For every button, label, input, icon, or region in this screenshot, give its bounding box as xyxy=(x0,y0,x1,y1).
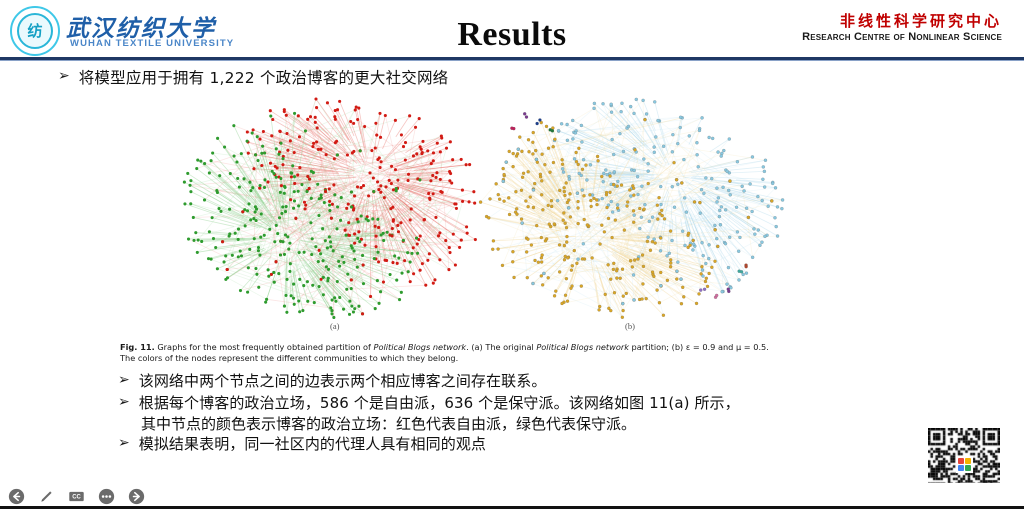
research-centre-name-en: Research Centre of Nonlinear Science xyxy=(802,31,1002,43)
bullet-item-3: ➢ 模拟结果表明，同一社区内的代理人具有相同的观点 xyxy=(118,435,908,455)
qr-logo-quadrant xyxy=(958,458,964,464)
top-bullet: ➢ 将模型应用于拥有 1,222 个政治博客的更大社交网络 xyxy=(58,68,448,88)
closed-caption-icon[interactable]: CC xyxy=(68,488,85,505)
figure-container xyxy=(120,92,910,337)
figure-sublabel-a: (a) xyxy=(330,321,339,331)
bullet-item-1: ➢ 该网络中两个节点之间的边表示两个相应博客之间存在联系。 xyxy=(118,372,908,392)
bullet-text-1: 该网络中两个节点之间的边表示两个相应博客之间存在联系。 xyxy=(139,372,547,392)
svg-text:CC: CC xyxy=(72,494,81,500)
caption-text-1: Graphs for the most frequently obtained … xyxy=(155,342,374,352)
header-divider-thin xyxy=(0,60,1024,61)
figure-sublabel-b: (b) xyxy=(625,321,635,331)
top-bullet-text: 将模型应用于拥有 1,222 个政治博客的更大社交网络 xyxy=(79,68,449,88)
caption-italic-1: Political Blogs network xyxy=(374,342,467,352)
bullet-marker-icon: ➢ xyxy=(118,372,130,390)
network-graph-b xyxy=(472,92,792,324)
bullet-marker-icon: ➢ xyxy=(118,394,130,412)
caption-figure-number: Fig. 11. xyxy=(120,342,155,352)
back-arrow-icon[interactable] xyxy=(8,488,25,505)
caption-text-2: . (a) The original xyxy=(466,342,536,352)
research-centre-name-cn: 非线性科学研究中心 xyxy=(840,10,1002,31)
bullet-text-2: 根据每个博客的政治立场，586 个是自由派，636 个是保守派。该网络如图 11… xyxy=(139,394,740,414)
qr-center-logo-icon xyxy=(956,456,973,473)
bullet-text-2-continued: 其中节点的颜色表示博客的政治立场：红色代表自由派，绿色代表保守派。 xyxy=(141,415,908,435)
network-graph-a xyxy=(172,92,492,324)
bullet-marker-icon: ➢ xyxy=(118,435,130,453)
qr-logo-quadrant xyxy=(965,465,971,471)
pencil-icon[interactable] xyxy=(38,488,55,505)
bullet-item-2: ➢ 根据每个博客的政治立场，586 个是自由派，636 个是保守派。该网络如图 … xyxy=(118,394,908,414)
bullet-marker-icon: ➢ xyxy=(58,68,70,86)
slide-header: 纺 武汉纺织大学 WUHAN TEXTILE UNIVERSITY Result… xyxy=(0,0,1024,58)
caption-text-3: partition; (b) ε = 0.9 and μ = 0.5. xyxy=(629,342,769,352)
qr-logo-quadrant xyxy=(958,465,964,471)
bullet-text-3: 模拟结果表明，同一社区内的代理人具有相同的观点 xyxy=(139,435,486,455)
more-options-icon[interactable] xyxy=(98,488,115,505)
caption-italic-2: Political Blogs network xyxy=(536,342,629,352)
caption-line-2: The colors of the nodes represent the di… xyxy=(120,353,458,363)
bullet-list: ➢ 该网络中两个节点之间的边表示两个相应博客之间存在联系。 ➢ 根据每个博客的政… xyxy=(118,372,908,456)
forward-arrow-icon[interactable] xyxy=(128,488,145,505)
qr-logo-quadrant xyxy=(965,458,971,464)
figure-caption: Fig. 11. Graphs for the most frequently … xyxy=(120,342,890,365)
slide: 纺 武汉纺织大学 WUHAN TEXTILE UNIVERSITY Result… xyxy=(0,0,1024,509)
